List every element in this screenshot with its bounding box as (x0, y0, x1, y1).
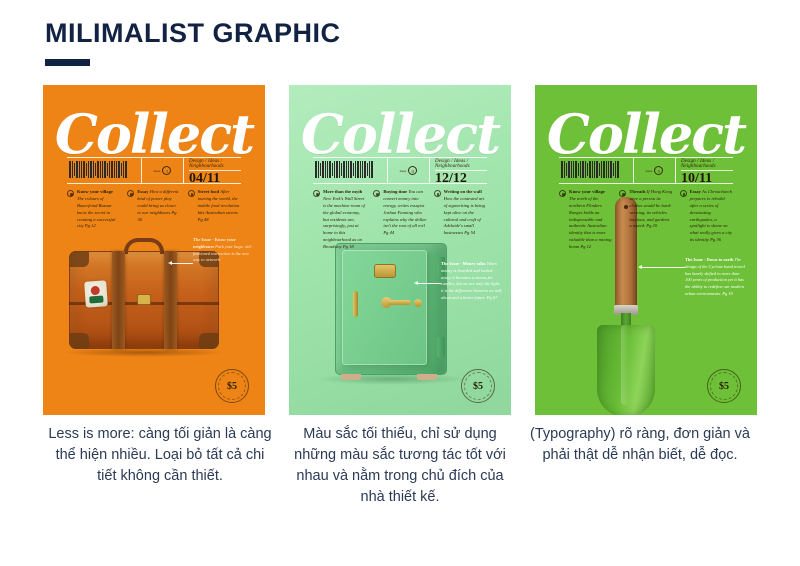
callout-body: When money is hoarded and locked away, i… (441, 261, 502, 300)
headline-item: Threads If Hong Kong were a person its c… (619, 189, 672, 251)
issue-label: issue (646, 169, 653, 173)
cover-headline-columns: Know your village The north of the north… (559, 189, 733, 251)
headline-body: As Christchurch prepares to rebuild afte… (690, 189, 732, 242)
issue-number: 11 (408, 166, 417, 175)
cover-kicker: Design / Ideas / Neighbourhoods (189, 159, 241, 171)
cover-issue-date: 04/11 (189, 172, 241, 187)
headline-body: The colours of Bauerfeind Bazaar know th… (77, 196, 115, 229)
caption-row: Less is more: càng tối giản là càng thể … (40, 424, 760, 508)
cover-headline-columns: Know your village The colours of Bauerfe… (67, 189, 241, 230)
cover-meta: Design / Ideas / Neighbourhoods 04/11 (183, 158, 241, 183)
suitcase-strap-left (112, 251, 125, 349)
headline-text: Threads If Hong Kong were a person its c… (629, 189, 672, 251)
headline-item: Buying time You can convert money into e… (373, 189, 426, 251)
barcode-icon (559, 158, 633, 183)
headline-body: The north of the northern Flinders Range… (569, 196, 612, 249)
price-badge: $5 (707, 369, 741, 403)
suitcase-shadow (61, 348, 227, 357)
cover-meta: Design / Ideas / Neighbourhoods 10/11 (675, 158, 733, 183)
magazine-cover-gallery: Collect issue 3 Design / Ideas / Neighbo… (43, 85, 757, 415)
suitcase-strap-right (164, 251, 177, 349)
page-title: MILIMALIST GRAPHIC (45, 18, 340, 49)
headline-item: Essay As Christchurch prepares to rebuil… (680, 189, 733, 251)
callout-leader-line (171, 263, 193, 264)
headline-title: Essay (137, 189, 148, 194)
headline-title: Threads (629, 189, 645, 194)
slide-header: MILIMALIST GRAPHIC (45, 18, 340, 66)
headline-text: Buying time You can convert money into e… (383, 189, 426, 251)
headline-title: Buying time (383, 189, 407, 194)
cover-issue-date: 10/11 (681, 172, 733, 187)
safe-foot-right (417, 374, 437, 380)
headline-body: If Hong Kong were a person its clothes w… (629, 189, 672, 228)
headline-text: Know your village The north of the north… (569, 189, 612, 251)
barcode-icon (67, 158, 141, 183)
price-badge-ring (464, 372, 492, 400)
cover-logo-collect: Collect (301, 107, 499, 161)
safe-knob (414, 299, 422, 307)
headline-item: Know your village The north of the north… (559, 189, 612, 251)
bullet-icon (559, 190, 566, 197)
price-badge-ring (218, 372, 246, 400)
bullet-icon (188, 190, 195, 197)
bullet-icon (373, 190, 380, 197)
magazine-cover-mint[interactable]: Collect issue 11 Design / Ideas / Neighb… (289, 85, 511, 415)
callout-text: The Issue - Know your neighbours Pack yo… (193, 237, 255, 264)
issue-number-badge: issue 5 (633, 158, 675, 183)
cover-meta: Design / Ideas / Neighbourhoods 12/12 (429, 158, 487, 183)
cover-masthead-strip: issue 5 Design / Ideas / Neighbourhoods … (559, 157, 733, 184)
cover-logo-collect: Collect (547, 107, 745, 161)
headline-item: More than the myth New York's Wall Stree… (313, 189, 366, 251)
bullet-icon (680, 190, 687, 197)
suitcase-lock (137, 294, 151, 305)
headline-text: Know your village The colours of Bauerfe… (77, 189, 120, 230)
bullet-icon (67, 190, 74, 197)
cover-masthead-strip: issue 3 Design / Ideas / Neighbourhoods … (67, 157, 241, 184)
headline-text: More than the myth New York's Wall Stree… (323, 189, 366, 251)
headline-text: Essay As Christchurch prepares to rebuil… (690, 189, 733, 251)
suitcase-corner-top-left (69, 251, 89, 267)
safe-illustration (335, 243, 447, 375)
headline-item: Street food After touring the world, the… (188, 189, 241, 230)
headline-body: New York's Wall Street is the machine ro… (323, 196, 365, 249)
caption-less-is-more: Less is more: càng tối giản là càng thể … (40, 424, 280, 508)
caption-typography: (Typography) rõ ràng, đơn giản và phải t… (520, 424, 760, 508)
safe-hinge-bottom (437, 337, 445, 357)
safe-brass-plate (374, 264, 396, 278)
callout-text: The Issue - Down to earth The design of … (685, 257, 747, 298)
callout-leader-line (417, 283, 441, 284)
suitcase-corner-bottom-right (199, 333, 219, 349)
callout-title: The Issue - Money talks (441, 261, 486, 266)
issue-number-badge: issue 3 (141, 158, 183, 183)
price-badge: $5 (215, 369, 249, 403)
headline-text: Street food After touring the world, the… (198, 189, 241, 230)
callout-text: The Issue - Money talks When money is ho… (441, 261, 503, 302)
barcode-icon (313, 158, 387, 183)
suitcase-corner-bottom-left (69, 333, 89, 349)
headline-title: Street food (198, 189, 219, 194)
issue-number: 5 (654, 166, 663, 175)
issue-number: 3 (162, 166, 171, 175)
safe-foot-left (341, 374, 361, 380)
headline-title: More than the myth (323, 189, 362, 194)
slide: MILIMALIST GRAPHIC (0, 0, 800, 566)
headline-item: Essay How a different kind of power play… (127, 189, 180, 230)
trowel-blade (597, 325, 655, 415)
callout-body: The design of the Cyclone hand trowel ha… (685, 257, 745, 296)
issue-label: issue (400, 169, 407, 173)
callout-title: The Issue - Down to earth (685, 257, 733, 262)
cover-logo-collect: Collect (55, 107, 253, 161)
price-badge: $5 (461, 369, 495, 403)
headline-title: Know your village (77, 189, 113, 194)
headline-title: Writing on the wall (444, 189, 482, 194)
bullet-icon (619, 190, 626, 197)
suitcase-illustration (69, 251, 219, 349)
bullet-icon (434, 190, 441, 197)
headline-title: Know your village (569, 189, 605, 194)
bullet-icon (313, 190, 320, 197)
bullet-icon (127, 190, 134, 197)
suitcase-handle (124, 238, 164, 254)
safe-lever (387, 300, 411, 305)
title-underline-rule (45, 59, 90, 66)
cover-issue-date: 12/12 (435, 172, 487, 187)
safe-handle (353, 291, 358, 317)
headline-text: Essay How a different kind of power play… (137, 189, 180, 230)
magazine-cover-orange[interactable]: Collect issue 3 Design / Ideas / Neighbo… (43, 85, 265, 415)
headline-item: Know your village The colours of Bauerfe… (67, 189, 120, 230)
headline-title: Essay (690, 189, 701, 194)
issue-number-badge: issue 11 (387, 158, 429, 183)
headline-text: Writing on the wall How the contested ar… (444, 189, 487, 251)
cover-kicker: Design / Ideas / Neighbourhoods (435, 159, 487, 171)
callout-leader-line (641, 267, 685, 268)
cover-masthead-strip: issue 11 Design / Ideas / Neighbourhoods… (313, 157, 487, 184)
price-badge-ring (710, 372, 738, 400)
headline-item: Writing on the wall How the contested ar… (434, 189, 487, 251)
magazine-cover-green[interactable]: Collect issue 5 Design / Ideas / Neighbo… (535, 85, 757, 415)
cover-headline-columns: More than the myth New York's Wall Stree… (313, 189, 487, 251)
cover-kicker: Design / Ideas / Neighbourhoods (681, 159, 733, 171)
suitcase-sticker (84, 280, 108, 307)
issue-label: issue (154, 169, 161, 173)
caption-minimal-color: Màu sắc tối thiểu, chỉ sử dụng những màu… (280, 424, 520, 508)
headline-body: How the contested art of signwriting is … (444, 196, 485, 235)
headline-body: You can convert money into energy, write… (383, 189, 426, 235)
